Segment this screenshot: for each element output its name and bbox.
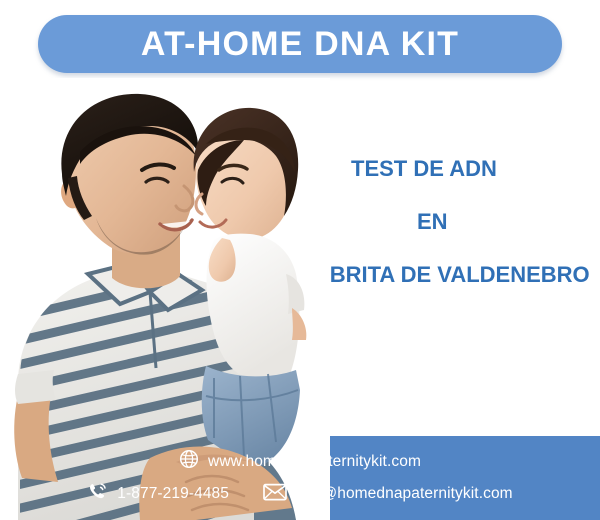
website-item[interactable]: www.homednapaternitykit.com [179,449,421,474]
website-text: www.homednapaternitykit.com [208,453,421,471]
email-text: info@homednapaternitykit.com [296,485,513,503]
promo-banner-image: www.homednapaternitykit.com 1-877-219-44… [0,0,600,520]
footer-contact-block: www.homednapaternitykit.com 1-877-219-44… [0,436,600,520]
email-item[interactable]: info@homednapaternitykit.com [263,483,513,506]
headline-line-2: EN [417,211,600,233]
footer-row-website: www.homednapaternitykit.com [179,449,421,474]
footer-row-phone-email: 1-877-219-4485 info@homednapaternitykit.… [87,481,512,507]
envelope-icon [263,483,287,506]
title-text: AT-HOME DNA KIT [141,27,459,61]
phone-text: 1-877-219-4485 [117,485,229,503]
phone-icon [87,481,108,507]
title-banner: AT-HOME DNA KIT [38,15,562,73]
headline-line-1: TEST DE ADN [351,158,600,180]
phone-item[interactable]: 1-877-219-4485 [87,481,229,507]
globe-icon [179,449,199,474]
